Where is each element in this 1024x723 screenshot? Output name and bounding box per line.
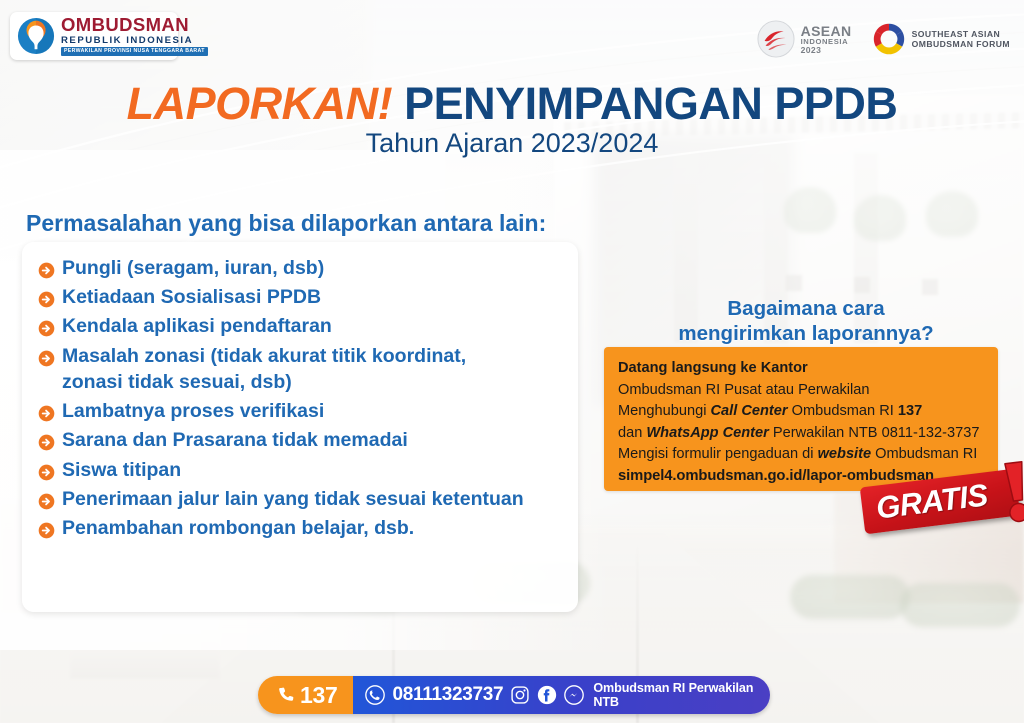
arrow-right-circle-icon — [38, 464, 55, 481]
whatsapp-icon[interactable] — [365, 685, 385, 705]
whatsapp-number: 08111323737 — [392, 684, 503, 706]
headline-main: PENYIMPANGAN PPDB — [404, 78, 897, 129]
messenger-icon[interactable] — [564, 685, 584, 705]
whatsapp-term: WhatsApp Center — [646, 425, 768, 441]
website-term: website — [818, 446, 872, 462]
arrow-right-circle-icon — [38, 434, 55, 451]
arrow-right-circle-icon — [38, 320, 55, 337]
saof-line2: OMBUDSMAN FORUM — [912, 39, 1010, 49]
list-item-label: Pungli (seragam, iuran, dsb) — [62, 256, 324, 282]
list-item-label: Sarana dan Prasarana tidak memadai — [62, 428, 408, 454]
contact-footer-bar: 137 08111323737 Ombudsman RI Perwakilan … — [258, 676, 770, 714]
list-item: Kendala aplikasi pendaftaran — [38, 314, 560, 340]
asean-label: ASEAN — [801, 24, 852, 38]
saof-badge: SOUTHEAST ASIAN OMBUDSMAN FORUM — [872, 22, 1010, 56]
list-item: Sarana dan Prasarana tidak memadai — [38, 428, 560, 454]
asean-year: 2023 — [801, 46, 852, 55]
instagram-icon[interactable] — [510, 685, 530, 705]
list-item-label: Penambahan rombongan belajar, dsb. — [62, 516, 414, 542]
problems-card: Pungli (seragam, iuran, dsb) Ketiadaan S… — [22, 242, 578, 612]
whatsapp-number: 0811-132-3737 — [882, 425, 980, 441]
problems-list: Pungli (seragam, iuran, dsb) Ketiadaan S… — [38, 256, 560, 542]
poster-canvas: OMBUDSMAN REPUBLIK INDONESIA PERWAKILAN … — [0, 0, 1024, 723]
list-item-label: Penerimaan jalur lain yang tidak sesuai … — [62, 487, 524, 513]
page-title: LAPORKAN!PENYIMPANGAN PPDB — [0, 78, 1024, 130]
logo-region: PERWAKILAN PROVINSI NUSA TENGGARA BARAT — [61, 47, 208, 55]
callcenter-pre: Menghubungi — [618, 403, 711, 419]
website-post: Ombudsman RI — [871, 446, 977, 462]
logo-subtitle: REPUBLIK INDONESIA — [61, 36, 208, 46]
ombudsman-emblem-icon — [17, 17, 55, 55]
list-item-label: Masalah zonasi (tidak akurat titik koord… — [62, 344, 466, 370]
arrow-right-circle-icon — [38, 522, 55, 539]
asean-badge: ASEAN INDONESIA 2023 — [757, 20, 852, 58]
website-pre: Mengisi formulir pengaduan di — [618, 446, 818, 462]
gratis-label: GRATIS — [874, 479, 989, 523]
how-to-report-heading: Bagaimana cara mengirimkan laporannya? — [604, 296, 1008, 346]
list-item-label: Ketiadaan Sosialisasi PPDB — [62, 285, 321, 311]
list-item: Siswa titipan — [38, 458, 560, 484]
callcenter-term: Call Center — [711, 403, 788, 419]
headline-subtitle: Tahun Ajaran 2023/2024 — [0, 128, 1024, 159]
list-item: Penerimaan jalur lain yang tidak sesuai … — [38, 487, 560, 513]
contact-line-office: Datang langsung ke Kantor — [618, 358, 985, 380]
logo-title: OMBUDSMAN — [61, 16, 208, 35]
social-segment: 08111323737 Ombudsman RI Perwakilan NTB — [353, 676, 770, 714]
phone-icon — [276, 686, 295, 705]
arrow-right-circle-icon — [38, 350, 55, 367]
callcenter-mid: Ombudsman RI — [788, 403, 898, 419]
whatsapp-pre: dan — [618, 425, 646, 441]
contact-line-office-detail: Ombudsman RI Pusat atau Perwakilan — [618, 380, 985, 402]
account-name: Ombudsman RI Perwakilan NTB — [593, 681, 756, 709]
hotline-number: 137 — [300, 682, 337, 709]
partner-badges: ASEAN INDONESIA 2023 — [757, 20, 1010, 58]
saof-ring-icon — [872, 22, 906, 56]
contact-line-whatsapp: dan WhatsApp Center Perwakilan NTB 0811-… — [618, 423, 985, 445]
asean-indonesia-icon — [757, 20, 795, 58]
problems-heading: Permasalahan yang bisa dilaporkan antara… — [26, 210, 546, 237]
hotline-segment[interactable]: 137 — [258, 676, 353, 714]
contact-info-box: Datang langsung ke Kantor Ombudsman RI P… — [604, 347, 998, 491]
exclamation-icon — [998, 459, 1024, 526]
list-item: Masalah zonasi (tidak akurat titik koord… — [38, 344, 560, 370]
arrow-right-circle-icon — [38, 291, 55, 308]
saof-line1: SOUTHEAST ASIAN — [912, 29, 1010, 39]
list-item: Penambahan rombongan belajar, dsb. — [38, 516, 560, 542]
facebook-icon[interactable] — [537, 685, 557, 705]
list-item-label: Lambatnya proses verifikasi — [62, 399, 324, 425]
list-item-continuation: zonasi tidak sesuai, dsb) — [38, 370, 560, 396]
arrow-right-circle-icon — [38, 262, 55, 279]
callcenter-number: 137 — [898, 403, 922, 419]
list-item: Ketiadaan Sosialisasi PPDB — [38, 285, 560, 311]
ombudsman-logo: OMBUDSMAN REPUBLIK INDONESIA PERWAKILAN … — [10, 12, 178, 60]
list-item: Pungli (seragam, iuran, dsb) — [38, 256, 560, 282]
list-item-label: Kendala aplikasi pendaftaran — [62, 314, 332, 340]
how-heading-line1: Bagaimana cara — [604, 296, 1008, 321]
list-item: Lambatnya proses verifikasi — [38, 399, 560, 425]
arrow-right-circle-icon — [38, 493, 55, 510]
headline-highlight: LAPORKAN! — [127, 78, 392, 129]
list-item-label: Siswa titipan — [62, 458, 181, 484]
arrow-right-circle-icon — [38, 405, 55, 422]
how-heading-line2: mengirimkan laporannya? — [604, 321, 1008, 346]
whatsapp-mid: Perwakilan NTB — [769, 425, 882, 441]
contact-line-callcenter: Menghubungi Call Center Ombudsman RI 137 — [618, 401, 985, 423]
contact-line-website: Mengisi formulir pengaduan di website Om… — [618, 444, 985, 466]
